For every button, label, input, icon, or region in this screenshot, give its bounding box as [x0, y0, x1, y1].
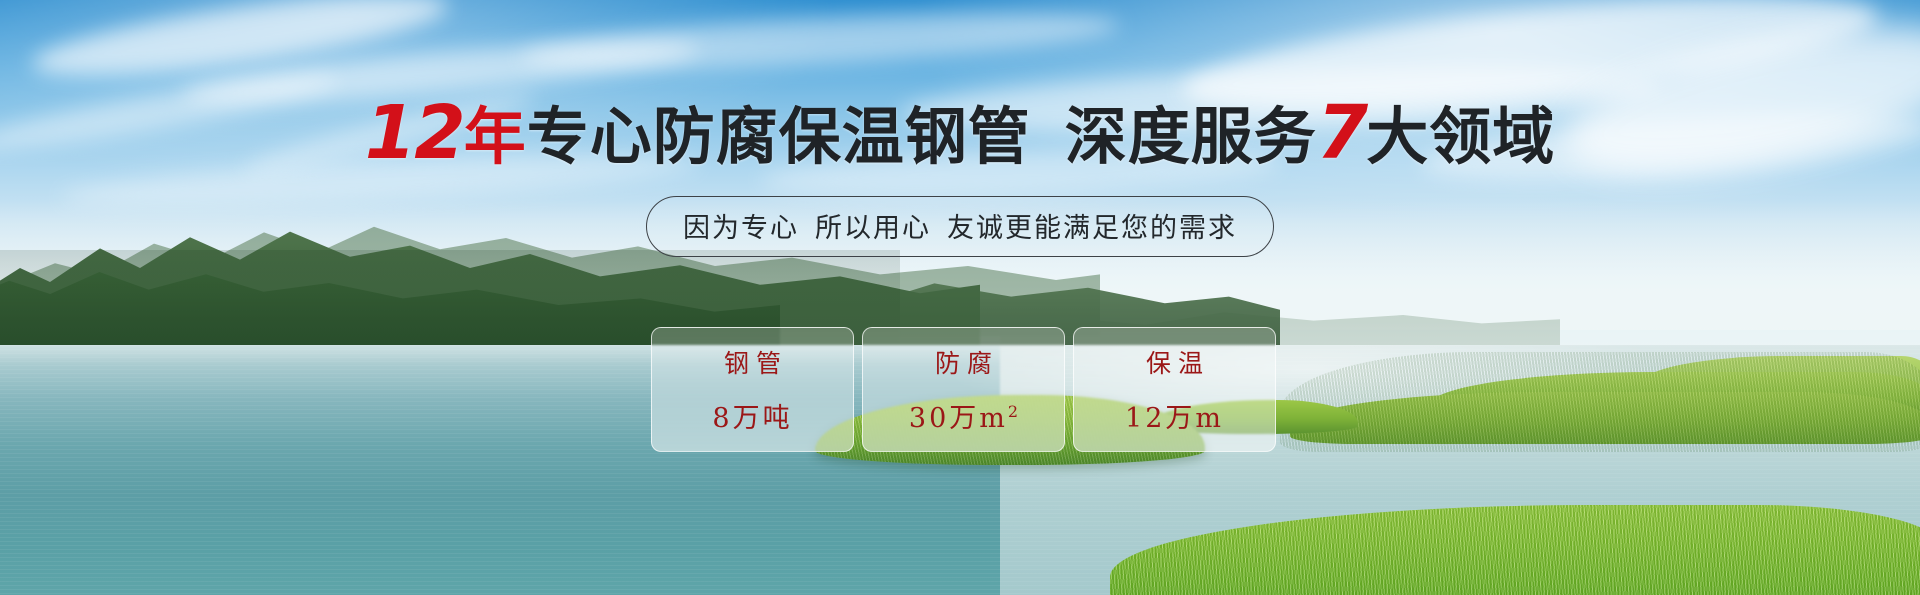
- stat-card-title: 防腐: [928, 344, 999, 380]
- stat-card-value: 30万m2: [909, 396, 1018, 435]
- stat-card-group: 钢管 8万吨 防腐 30万m2 保温 12万m: [651, 327, 1276, 452]
- subtitle-segment-3: 友诚更能满足您的需求: [947, 213, 1237, 244]
- banner-subtitle-pill: 因为专心所以用心友诚更能满足您的需求: [646, 196, 1274, 257]
- stat-card-value: 8万吨: [712, 396, 792, 435]
- subtitle-segment-2: 所以用心: [815, 213, 931, 244]
- headline-part-2: 深度服务: [1065, 100, 1317, 173]
- headline-part-1: 专心防腐保温钢管: [527, 100, 1031, 173]
- stat-value-superscript: 2: [1008, 402, 1018, 421]
- stat-value-main: 12万m: [1125, 403, 1224, 434]
- headline-years-unit: 年: [464, 100, 527, 173]
- stat-card-insulation[interactable]: 保温 12万m: [1073, 327, 1276, 452]
- headline-years-number: 12: [365, 90, 464, 176]
- stat-card-steel-pipe[interactable]: 钢管 8万吨: [651, 327, 854, 452]
- stat-card-anticorrosion[interactable]: 防腐 30万m2: [862, 327, 1065, 452]
- stat-card-value: 12万m: [1125, 396, 1224, 435]
- banner-headline: 12年专心防腐保温钢管深度服务7大领域: [0, 86, 1920, 176]
- headline-part-3: 大领域: [1366, 100, 1555, 173]
- headline-fields-number: 7: [1317, 90, 1367, 176]
- subtitle-segment-1: 因为专心: [683, 213, 799, 244]
- stat-card-title: 钢管: [717, 344, 788, 380]
- stat-value-main: 8万吨: [712, 403, 792, 434]
- hero-banner: 12年专心防腐保温钢管深度服务7大领域 因为专心所以用心友诚更能满足您的需求 钢…: [0, 0, 1920, 595]
- stat-card-title: 保温: [1139, 344, 1210, 380]
- banner-content: 12年专心防腐保温钢管深度服务7大领域 因为专心所以用心友诚更能满足您的需求 钢…: [0, 0, 1920, 595]
- banner-subtitle-wrap: 因为专心所以用心友诚更能满足您的需求: [0, 196, 1920, 257]
- stat-value-main: 30万m: [909, 403, 1008, 434]
